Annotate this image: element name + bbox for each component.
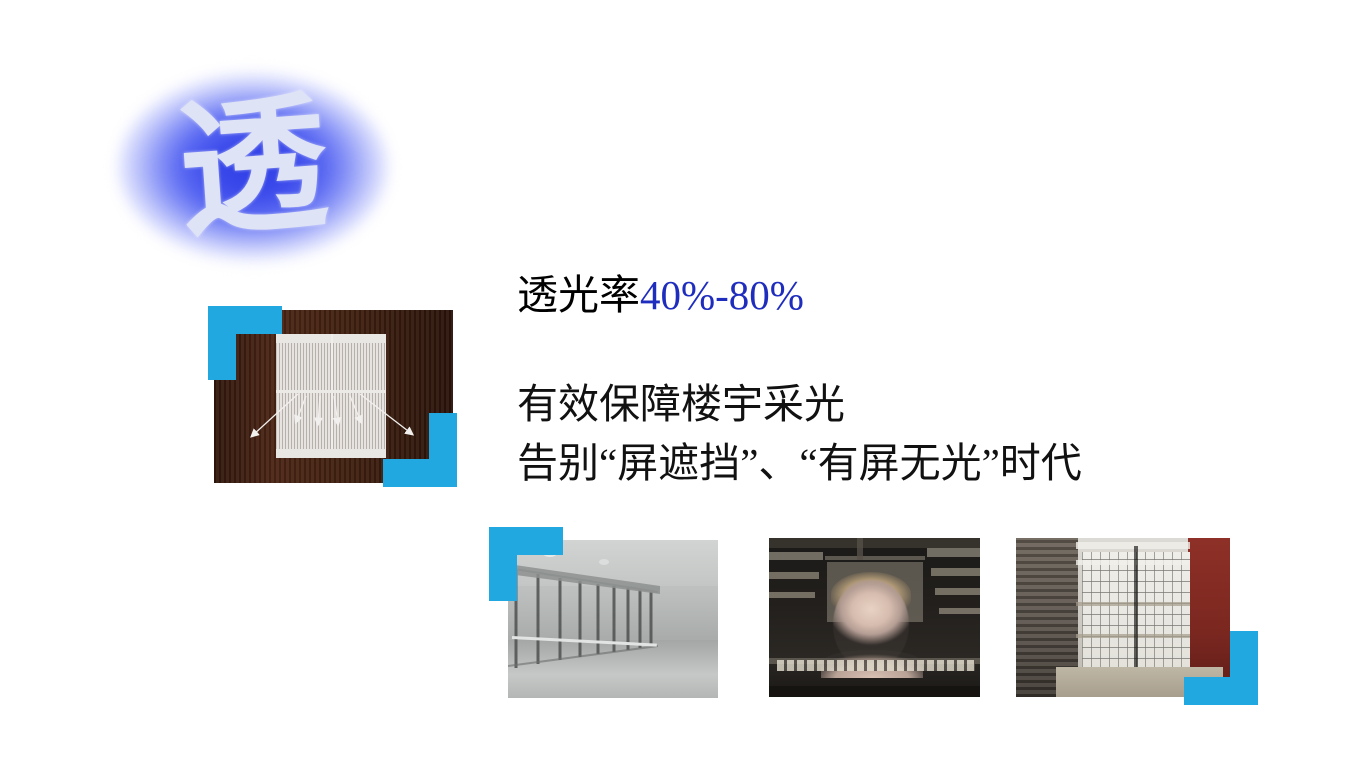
corner-arm-vertical <box>429 413 457 487</box>
headline: 透光率40%-80% <box>517 272 804 319</box>
atrium-light-strip <box>777 660 975 671</box>
photo-atrium-face-canvas <box>769 538 980 697</box>
corner-accent-top-left <box>489 527 563 601</box>
slide-title-block: 透 <box>118 72 388 262</box>
photo-atrium-face-screen <box>769 538 980 697</box>
body-text: 有效保障楼宇采光 告别“屏遮挡”、“有屏无光”时代 <box>517 375 1082 494</box>
photo-atrium-mesh-install <box>1016 538 1230 697</box>
headline-value: 40%-80% <box>640 272 804 318</box>
corner-arm-vertical <box>1230 631 1258 705</box>
corner-arm-vertical <box>489 527 517 601</box>
corner-arm-vertical <box>208 306 236 380</box>
photo-glass-corridor <box>508 540 718 698</box>
corner-accent-top-left <box>208 306 282 380</box>
corner-accent-bottom-right <box>1184 631 1258 705</box>
corner-accent-bottom-right <box>383 413 457 487</box>
body-line-2: 告别“屏遮挡”、“有屏无光”时代 <box>517 434 1082 493</box>
title-character: 透 <box>112 63 395 271</box>
photo-mesh-panel <box>214 310 453 483</box>
body-line-1: 有效保障楼宇采光 <box>517 375 1082 434</box>
headline-label: 透光率 <box>517 272 640 318</box>
